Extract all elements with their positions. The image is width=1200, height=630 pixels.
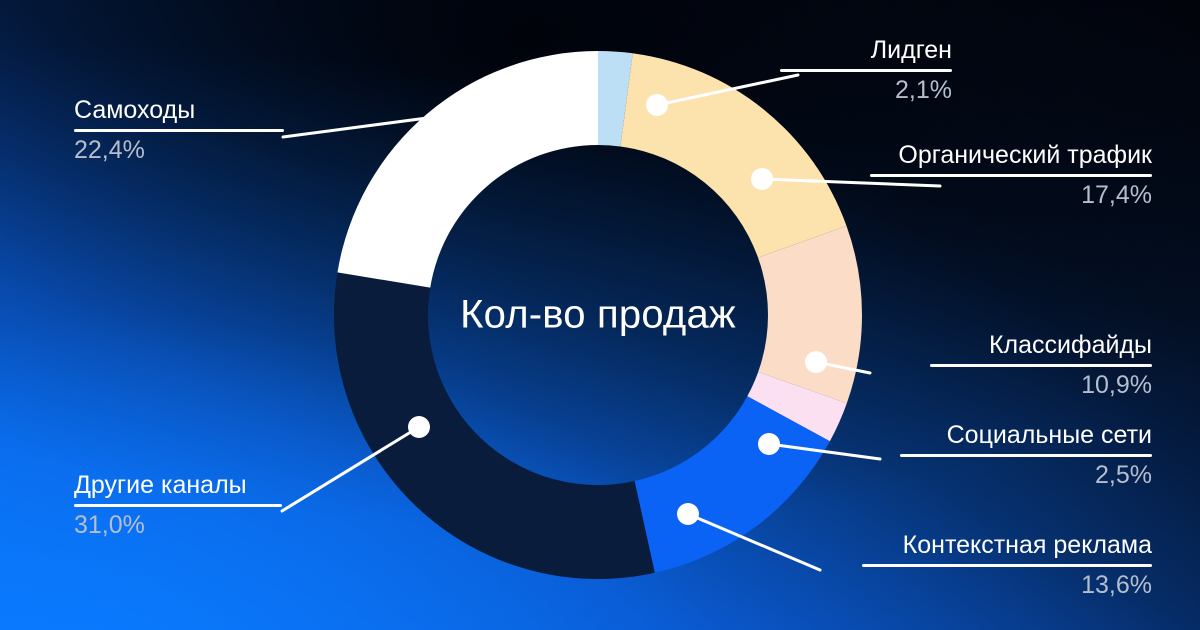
callout-label: Органический трафик bbox=[870, 140, 1152, 171]
callout-percent: 13,6% bbox=[862, 569, 1152, 602]
callout-percent: 2,5% bbox=[900, 459, 1152, 492]
chart-center-title: Кол-во продаж bbox=[460, 293, 736, 338]
callout-dot-lidgen[interactable] bbox=[646, 94, 668, 116]
callout-klassifaydy[interactable]: Классифайды10,9% bbox=[930, 330, 1152, 402]
callout-percent: 2,1% bbox=[780, 74, 952, 107]
callout-dot-socialnye-seti[interactable] bbox=[758, 433, 780, 455]
callout-underline bbox=[862, 564, 1152, 567]
donut-slice[interactable] bbox=[758, 226, 862, 403]
callout-lidgen[interactable]: Лидген2,1% bbox=[780, 35, 952, 107]
callout-drugie-kanaly[interactable]: Другие каналы31,0% bbox=[74, 470, 282, 542]
callout-dot-organicheskiy-trafik[interactable] bbox=[751, 168, 773, 190]
callout-percent: 10,9% bbox=[930, 369, 1152, 402]
callout-percent: 31,0% bbox=[74, 509, 282, 542]
callout-underline bbox=[900, 454, 1152, 457]
donut-chart-infographic: Кол-во продаж Самоходы22,4%Лидген2,1%Орг… bbox=[0, 0, 1200, 630]
callout-label: Социальные сети bbox=[900, 420, 1152, 451]
callout-samohody[interactable]: Самоходы22,4% bbox=[74, 95, 284, 167]
donut-slice[interactable] bbox=[337, 51, 598, 288]
callout-organicheskiy-trafik[interactable]: Органический трафик17,4% bbox=[870, 140, 1152, 212]
callout-percent: 22,4% bbox=[74, 134, 284, 167]
callout-socialnye-seti[interactable]: Социальные сети2,5% bbox=[900, 420, 1152, 492]
leader-line-samohody bbox=[283, 118, 427, 137]
callout-underline bbox=[74, 129, 284, 132]
callout-underline bbox=[930, 364, 1152, 367]
callout-label: Самоходы bbox=[74, 95, 284, 126]
callout-underline bbox=[780, 69, 952, 72]
callout-label: Лидген bbox=[780, 35, 952, 66]
callout-dot-klassifaydy[interactable] bbox=[805, 351, 827, 373]
callout-dot-drugie-kanaly[interactable] bbox=[408, 416, 430, 438]
callout-underline bbox=[870, 174, 1152, 177]
callout-percent: 17,4% bbox=[870, 179, 1152, 212]
callout-label: Классифайды bbox=[930, 330, 1152, 361]
callout-label: Контекстная реклама bbox=[862, 530, 1152, 561]
callout-kontekstnaya-reklama[interactable]: Контекстная реклама13,6% bbox=[862, 530, 1152, 602]
callout-underline bbox=[74, 504, 282, 507]
callout-dot-kontekstnaya-reklama[interactable] bbox=[677, 503, 699, 525]
callout-label: Другие каналы bbox=[74, 470, 282, 501]
